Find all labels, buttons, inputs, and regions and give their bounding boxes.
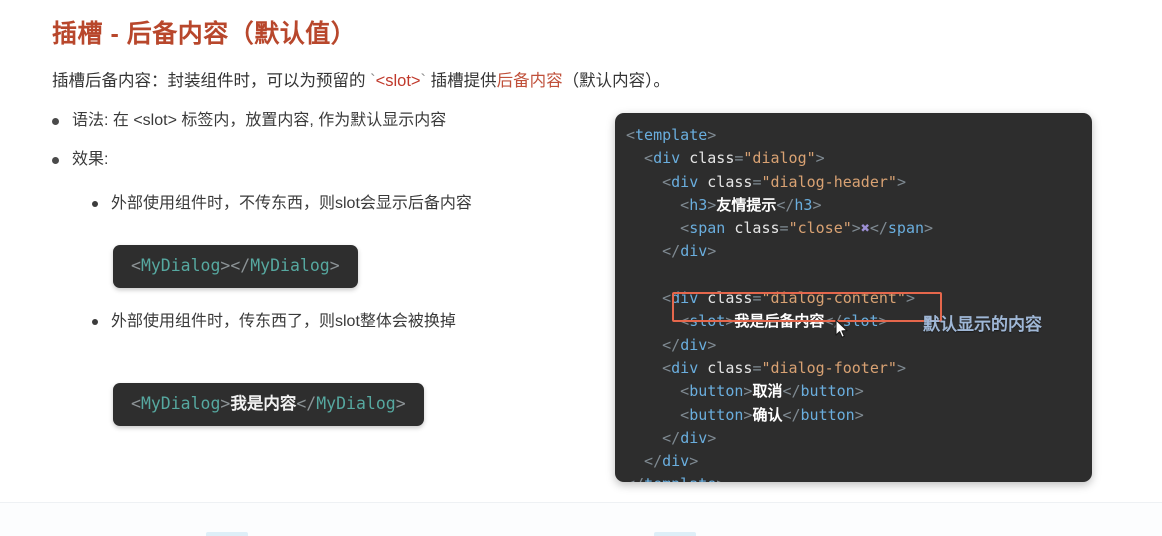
code-token: "dialog-content" [761,289,906,307]
code-line: <span class="close">✖</span> [626,217,933,240]
code-token: class [725,219,779,237]
mouse-cursor-icon [835,319,849,339]
code-token: < [626,149,653,167]
list-item: 外部使用组件时，传东西了，则slot整体会被换掉 [92,311,612,333]
code-token: 我是后备内容 [734,313,824,330]
code-line: <div class="dialog-header"> [626,171,933,194]
code-token: > [924,219,933,237]
bullet-dot-icon [52,157,59,164]
code-token: span [689,219,725,237]
chip-open-tag: MyDialog [141,394,220,413]
code-token: > [897,359,906,377]
code-line: <button>确认</button> [626,404,933,427]
code-token: div [653,149,680,167]
intro-tail: （默认内容）。 [563,72,670,90]
code-token: 确认 [752,407,782,424]
code-token: > [707,429,716,447]
list-item-label: 外部使用组件时，传东西了，则slot整体会被换掉 [111,311,456,333]
code-token: span [888,219,924,237]
bullet-list: 语法: 在 <slot> 标签内，放置内容, 作为默认显示内容 效果: 外部使用… [52,110,612,333]
code-token: button [689,382,743,400]
code-token: > [906,289,915,307]
code-token: > [855,406,864,424]
code-token: > [897,173,906,191]
code-token: > [855,382,864,400]
code-line: <div class="dialog-content"> [626,287,933,310]
code-token: button [801,382,855,400]
code-line [626,264,933,287]
code-token: </ [776,196,794,214]
code-token: h3 [794,196,812,214]
code-token: = [780,219,789,237]
bullet-dot-icon [92,319,98,325]
chip-close-tag: MyDialog [250,256,329,275]
code-token: div [671,359,698,377]
bullet-dot-icon [52,118,59,125]
list-item-label: 语法: 在 <slot> 标签内，放置内容, 作为默认显示内容 [72,110,446,132]
code-token: > [716,475,725,482]
code-token: class [698,289,752,307]
chip-close-bracket: </ [296,394,316,413]
chip-close-bracket: </ [230,256,250,275]
code-token: < [626,359,671,377]
list-item-label: 外部使用组件时，不传东西，则slot会显示后备内容 [111,193,472,215]
code-token: </ [626,452,662,470]
code-line: </div> [626,450,933,473]
code-token: template [644,475,716,482]
code-line: <h3>友情提示</h3> [626,194,933,217]
inline-slot-code: <slot> [376,72,421,90]
code-token: "dialog-footer" [761,359,896,377]
list-item: 效果: [52,149,612,171]
code-token: 友情提示 [716,197,776,214]
intro-accent: 后备内容 [497,72,563,90]
code-token: > [879,312,888,330]
chip-close-gt: > [330,256,340,275]
intro-mid: 插槽提供 [426,72,497,90]
code-line: <template> [626,124,933,147]
code-token: < [626,173,671,191]
strip-indicator-left [206,532,248,536]
code-token: > [689,452,698,470]
code-token: > [816,149,825,167]
code-token: "dialog" [743,149,815,167]
chip-close-tag: MyDialog [316,394,395,413]
code-token: < [626,126,635,144]
bullet-dot-icon [92,201,98,207]
code-token: class [698,173,752,191]
code-line: </div> [626,427,933,450]
intro-lead: 插槽后备内容：封装组件时，可以为预留的 [52,72,370,90]
code-token: </ [870,219,888,237]
page-title: 插槽 - 后备内容（默认值） [52,14,356,50]
strip-indicator-right [654,532,696,536]
chip-open-gt: > [220,256,230,275]
code-token: </ [782,382,800,400]
code-token: > [852,219,861,237]
code-token: div [680,336,707,354]
code-token: class [680,149,734,167]
code-token: 取消 [752,383,782,400]
code-token: < [626,196,689,214]
code-line: </div> [626,334,933,357]
chip-open-bracket: < [131,394,141,413]
code-token: template [635,126,707,144]
code-token: ✖ [861,219,870,237]
code-token: div [680,429,707,447]
code-token: slot [689,312,725,330]
list-item-label: 效果: [72,149,108,171]
code-chip-empty-usage: <MyDialog></MyDialog> [113,245,358,288]
intro-paragraph: 插槽后备内容：封装组件时，可以为预留的 `<slot>` 插槽提供后备内容（默认… [52,70,670,92]
list-item: 语法: 在 <slot> 标签内，放置内容, 作为默认显示内容 [52,110,612,132]
code-token: > [707,336,716,354]
code-token: "dialog-header" [761,173,896,191]
code-chip-filled-usage: <MyDialog>我是内容</MyDialog> [113,383,424,426]
chip-open-tag: MyDialog [141,256,220,275]
chip-open-gt: > [220,394,230,413]
code-token: < [626,289,671,307]
code-token: > [812,196,821,214]
code-token: div [680,242,707,260]
code-line: </div> [626,240,933,263]
code-token: "close" [789,219,852,237]
code-token: class [698,359,752,377]
code-token: </ [626,242,680,260]
code-token: div [671,173,698,191]
chip-close-gt: > [396,394,406,413]
annotation-label: 默认显示的内容 [923,310,1042,335]
code-token: </ [626,475,644,482]
chip-inner-text: 我是内容 [230,395,296,413]
code-token: > [707,196,716,214]
code-token: > [707,126,716,144]
code-token: div [671,289,698,307]
code-token: < [626,382,689,400]
chip-open-bracket: < [131,256,141,275]
code-line: <div class="dialog"> [626,147,933,170]
code-token: < [626,406,689,424]
code-line: </template> [626,473,933,482]
code-token: button [689,406,743,424]
code-line: <button>取消</button> [626,380,933,403]
code-line: <div class="dialog-footer"> [626,357,933,380]
code-token: < [626,219,689,237]
bottom-strip [0,502,1162,536]
code-token: button [801,406,855,424]
code-token: </ [626,336,680,354]
code-panel-source: <template> <div class="dialog"> <div cla… [626,124,933,482]
code-token: div [662,452,689,470]
list-item: 外部使用组件时，不传东西，则slot会显示后备内容 [92,193,612,215]
code-panel: <template> <div class="dialog"> <div cla… [615,113,1092,482]
code-token: > [707,242,716,260]
code-token: </ [626,429,680,447]
code-token: </ [782,406,800,424]
code-line: <slot>我是后备内容</slot> [626,310,933,333]
slide-canvas: 插槽 - 后备内容（默认值） 插槽后备内容：封装组件时，可以为预留的 `<slo… [0,0,1162,502]
code-token: h3 [689,196,707,214]
code-token: < [626,312,689,330]
